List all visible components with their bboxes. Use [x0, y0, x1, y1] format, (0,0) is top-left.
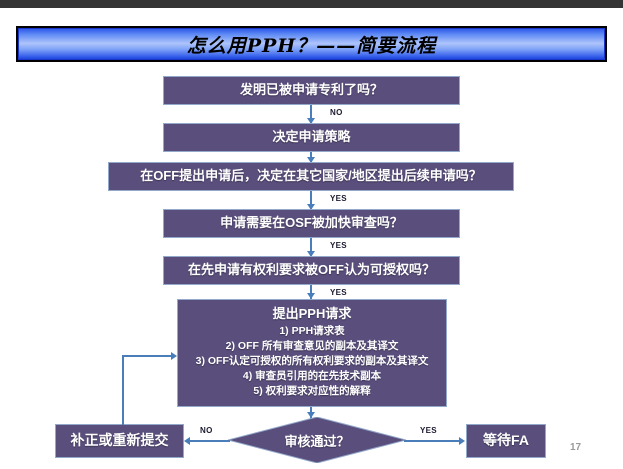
connector-decision-yes — [404, 440, 460, 442]
connector-label-yes-2: YES — [330, 241, 347, 250]
pph-requirements-list: 1) PPH请求表 2) OFF 所有审查意见的副本及其译文 3) OFF认定可… — [196, 324, 429, 399]
connector-label-no-2: NO — [200, 426, 213, 435]
connector-feedback-vertical — [122, 355, 124, 425]
slide-title-banner: 怎么用PPH？——简要流程 — [16, 26, 607, 62]
pph-list-item: 1) PPH请求表 — [196, 324, 429, 339]
connector-decision-no-arrowhead — [184, 437, 190, 445]
page-title: 怎么用PPH？——简要流程 — [187, 31, 437, 58]
slide-title-banner-inner: 怎么用PPH？——简要流程 — [18, 28, 605, 60]
flow-node-accelerated-exam-osf[interactable]: 申请需要在OSF被加快审查吗？ — [163, 209, 460, 238]
connector-label-no-1: NO — [330, 108, 343, 117]
flow-node-submit-pph-request[interactable]: 提出PPH请求 1) PPH请求表 2) OFF 所有审查意见的副本及其译文 3… — [177, 299, 447, 407]
connector-feedback-horizontal — [122, 355, 172, 357]
decision-label: 审核通过？ — [228, 417, 406, 463]
pph-list-item: 2) OFF 所有审查意见的副本及其译文 — [196, 339, 429, 354]
flow-node-amend-resubmit[interactable]: 补正或重新提交 — [55, 424, 184, 458]
connector-decision-yes-arrowhead — [459, 437, 465, 445]
slide-canvas: 怎么用PPH？——简要流程 发明已被申请专利了吗？ NO 决定申请策略 在OFF… — [0, 0, 623, 469]
flow-node-decide-strategy[interactable]: 决定申请策略 — [163, 123, 460, 152]
top-window-strip — [0, 0, 623, 8]
pph-list-item: 4) 审查员引用的在先技术副本 — [196, 369, 429, 384]
pph-list-item: 5) 权利要求对应性的解释 — [196, 384, 429, 399]
page-number: 17 — [570, 442, 581, 453]
flow-node-file-other-countries[interactable]: 在OFF提出申请后，决定在其它国家/地区提出后续申请吗？ — [108, 162, 514, 191]
connector-label-yes-3: YES — [330, 288, 347, 297]
flow-decision-review-passed[interactable]: 审核通过？ — [228, 417, 406, 463]
connector-label-yes-1: YES — [330, 194, 347, 203]
connector-decision-no — [190, 440, 230, 442]
flow-node-invention-patented[interactable]: 发明已被申请专利了吗？ — [163, 76, 460, 105]
pph-node-title: 提出PPH请求 — [273, 306, 352, 322]
flow-node-wait-fa[interactable]: 等待FA — [466, 424, 546, 458]
connector-label-yes-4: YES — [420, 426, 437, 435]
pph-list-item: 3) OFF认定可授权的所有权利要求的副本及其译文 — [196, 354, 429, 369]
flow-node-claims-allowable[interactable]: 在先申请有权利要求被OFF认为可授权吗？ — [163, 256, 460, 285]
connector-feedback-arrowhead — [171, 352, 177, 360]
